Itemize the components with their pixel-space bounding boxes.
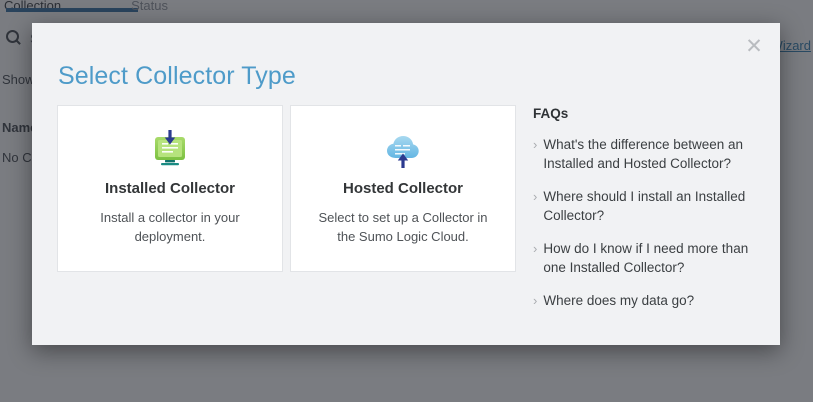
dialog-title: Select Collector Type	[58, 62, 296, 91]
faq-item[interactable]: › Where should I install an Installed Co…	[533, 187, 757, 225]
card-hosted-collector-title: Hosted Collector	[343, 180, 463, 197]
faq-item[interactable]: › What's the difference between an Insta…	[533, 135, 757, 173]
card-installed-collector-title: Installed Collector	[105, 180, 235, 197]
faq-item[interactable]: › Where does my data go?	[533, 291, 757, 310]
select-collector-type-dialog: ✕ Select Collector Type	[32, 23, 780, 345]
chevron-right-icon: ›	[533, 187, 537, 206]
card-installed-collector[interactable]: Installed Collector Install a collector …	[57, 105, 283, 272]
collector-type-card-list: Installed Collector Install a collector …	[57, 105, 516, 272]
chevron-right-icon: ›	[533, 135, 537, 154]
faq-item-label: What's the difference between an Install…	[543, 135, 757, 173]
close-icon[interactable]: ✕	[742, 35, 766, 59]
faq-item[interactable]: › How do I know if I need more than one …	[533, 239, 757, 277]
installed-collector-monitor-icon	[147, 128, 193, 172]
card-hosted-collector-description: Select to set up a Collector in the Sumo…	[313, 208, 493, 246]
card-hosted-collector[interactable]: Hosted Collector Select to set up a Coll…	[290, 105, 516, 272]
app-root: Collection Status Search Show: Name No C…	[0, 0, 813, 402]
faq-item-label: How do I know if I need more than one In…	[543, 239, 757, 277]
faqs-panel: FAQs › What's the difference between an …	[533, 106, 757, 324]
chevron-right-icon: ›	[533, 239, 537, 258]
faq-item-label: Where does my data go?	[543, 291, 694, 310]
chevron-right-icon: ›	[533, 291, 537, 310]
hosted-collector-cloud-icon	[380, 128, 426, 172]
faq-item-label: Where should I install an Installed Coll…	[543, 187, 757, 225]
faqs-heading: FAQs	[533, 106, 757, 121]
card-installed-collector-description: Install a collector in your deployment.	[80, 208, 260, 246]
